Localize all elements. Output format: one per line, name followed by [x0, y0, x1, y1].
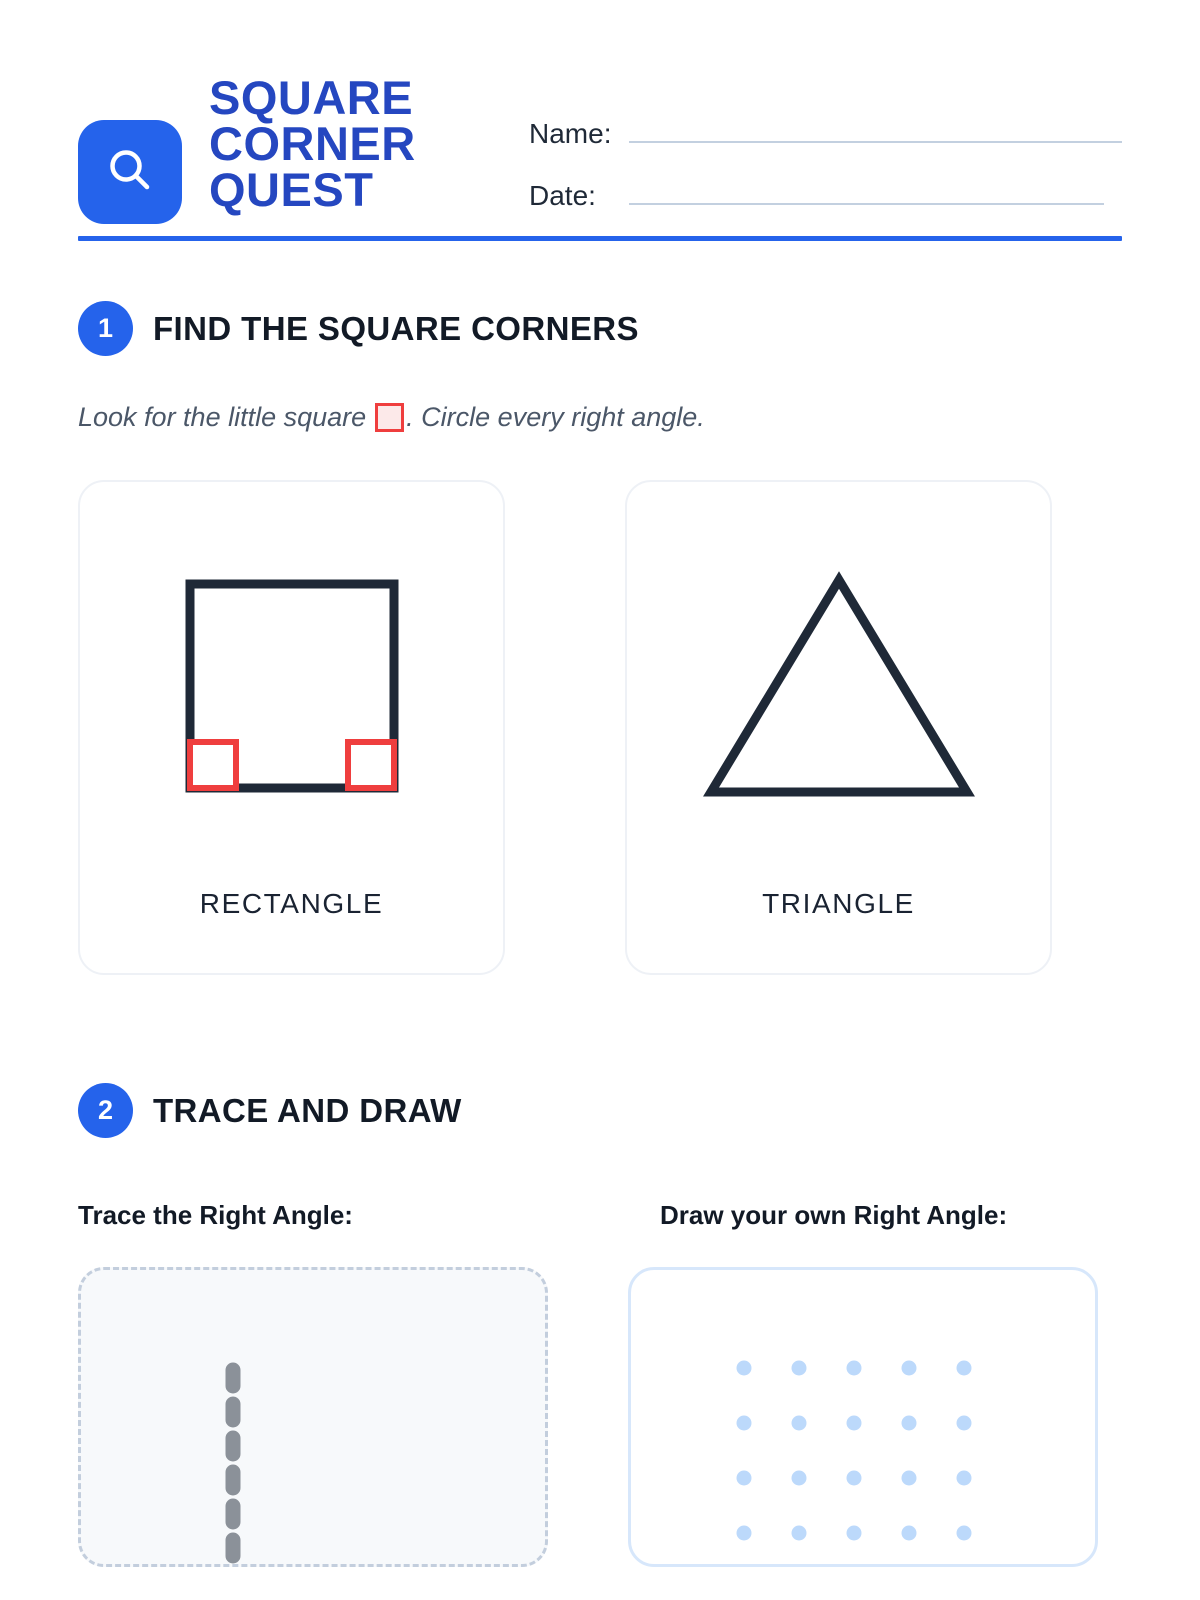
date-label: Date:: [529, 180, 629, 212]
triangle-figure: [699, 536, 979, 836]
trace-panel-label: Trace the Right Angle:: [78, 1200, 540, 1231]
draw-column-label-wrap: Draw your own Right Angle:: [660, 1200, 1122, 1231]
shape-label-rectangle: RECTANGLE: [200, 888, 383, 920]
page-title: SQUARE CORNER QUEST: [209, 75, 509, 213]
student-info-fields: Name: Date:: [529, 75, 1122, 239]
name-input[interactable]: [629, 115, 1122, 143]
section-1-instruction: Look for the little square . Circle ever…: [78, 402, 1122, 433]
section-2-title: TRACE AND DRAW: [153, 1092, 462, 1130]
search-icon: [102, 142, 158, 203]
right-angle-marker-bottom-left: [190, 742, 236, 788]
draw-panel-label: Draw your own Right Angle:: [660, 1200, 1122, 1231]
name-field-row: Name:: [529, 115, 1122, 150]
app-logo: [78, 120, 182, 224]
section-1-header: 1 FIND THE SQUARE CORNERS: [78, 301, 1122, 356]
draw-dot-grid-box[interactable]: [628, 1267, 1098, 1567]
title-line-3: QUEST: [209, 167, 509, 213]
instruction-text-after: . Circle every right angle.: [406, 402, 705, 433]
date-field-row: Date:: [529, 177, 1122, 212]
title-line-1: SQUARE: [209, 75, 509, 121]
title-line-2: CORNER: [209, 121, 509, 167]
shape-label-triangle: TRIANGLE: [762, 888, 915, 920]
step-badge-2: 2: [78, 1083, 133, 1138]
section-find-square-corners: 1 FIND THE SQUARE CORNERS Look for the l…: [78, 301, 1122, 975]
step-badge-1: 1: [78, 301, 133, 356]
practice-labels-row: Trace the Right Angle: Draw your own Rig…: [78, 1200, 1122, 1231]
name-label: Name:: [529, 118, 629, 150]
dot-grid: [737, 1361, 972, 1541]
practice-panels-row: [78, 1267, 1122, 1567]
section-2-header: 2 TRACE AND DRAW: [78, 1083, 1122, 1138]
section-1-title: FIND THE SQUARE CORNERS: [153, 310, 639, 348]
shape-card-rectangle[interactable]: RECTANGLE: [78, 480, 505, 975]
right-angle-marker-bottom-right: [348, 742, 394, 788]
instruction-text-before: Look for the little square: [78, 402, 366, 433]
worksheet-page: SQUARE CORNER QUEST Name: Date: 1 FIND T…: [0, 0, 1200, 1600]
worksheet-header: SQUARE CORNER QUEST Name: Date:: [78, 0, 1122, 230]
trace-right-angle-box[interactable]: [78, 1267, 548, 1567]
trace-column-label-wrap: Trace the Right Angle:: [78, 1200, 540, 1231]
shape-card-row: RECTANGLE TRIANGLE: [78, 480, 1122, 975]
right-angle-square-icon: [375, 403, 404, 432]
rectangle-figure: [182, 536, 402, 836]
shape-card-triangle[interactable]: TRIANGLE: [625, 480, 1052, 975]
section-trace-and-draw: 2 TRACE AND DRAW Trace the Right Angle: …: [78, 1083, 1122, 1567]
date-input[interactable]: [629, 177, 1104, 205]
